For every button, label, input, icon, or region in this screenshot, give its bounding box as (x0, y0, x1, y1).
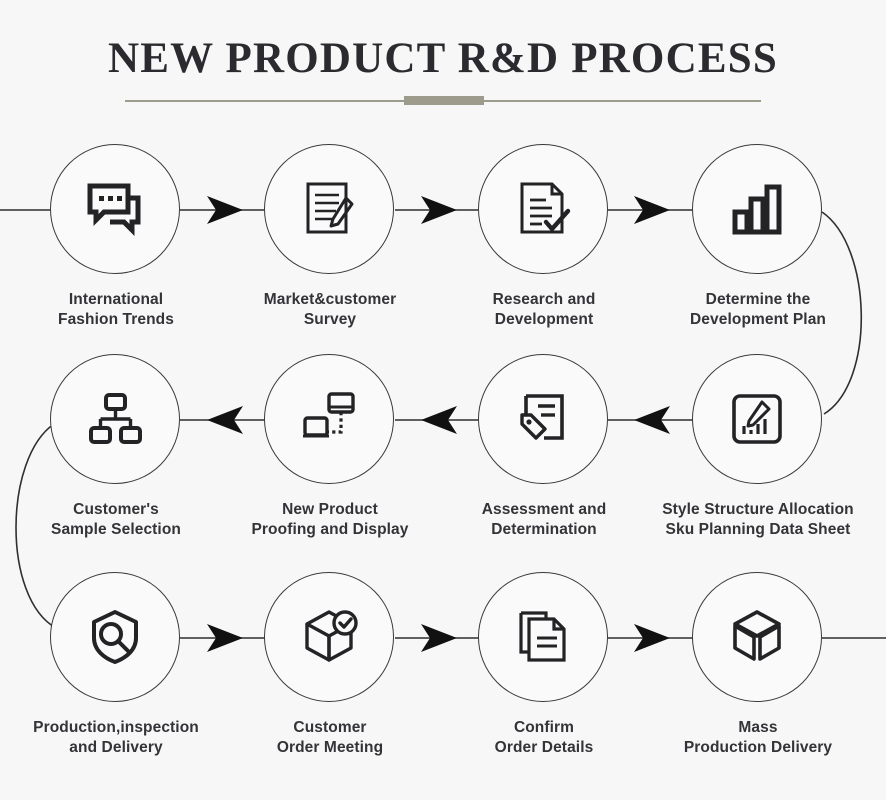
step-circle-6[interactable] (264, 354, 394, 484)
step-node-6[interactable]: New Product Proofing and Display (264, 354, 396, 486)
document-pencil-icon (298, 178, 360, 240)
step-circle-10[interactable] (264, 572, 394, 702)
step-circle-9[interactable] (50, 572, 180, 702)
cube-3d-icon (726, 606, 788, 668)
document-tag-icon (512, 388, 574, 450)
step-label-12-line1: Mass (632, 718, 884, 738)
bar-chart-icon (726, 178, 788, 240)
step-circle-11[interactable] (478, 572, 608, 702)
chart-pencil-board-icon (726, 388, 788, 450)
step-circle-4[interactable] (692, 144, 822, 274)
step-circle-12[interactable] (692, 572, 822, 702)
step-node-4[interactable]: Determine the Development Plan (692, 144, 824, 276)
step-node-3[interactable]: Research and Development (478, 144, 610, 276)
documents-stack-icon (512, 606, 574, 668)
step-label-4-line2: Development Plan (632, 310, 884, 330)
org-chart-icon (84, 388, 146, 450)
step-circle-7[interactable] (478, 354, 608, 484)
shield-search-icon (84, 606, 146, 668)
step-node-10[interactable]: Customer Order Meeting (264, 572, 396, 704)
box-check-icon (298, 606, 360, 668)
step-circle-1[interactable] (50, 144, 180, 274)
step-circle-3[interactable] (478, 144, 608, 274)
step-circle-2[interactable] (264, 144, 394, 274)
step-label-12-line2: Production Delivery (632, 738, 884, 758)
step-node-1[interactable]: International Fashion Trends (50, 144, 182, 276)
step-label-4-line1: Determine the (632, 290, 884, 310)
step-circle-8[interactable] (692, 354, 822, 484)
step-label-8-line1: Style Structure Allocation (632, 500, 884, 520)
step-node-8[interactable]: Style Structure Allocation Sku Planning … (692, 354, 824, 486)
step-label-8-line2: Sku Planning Data Sheet (632, 520, 884, 540)
devices-connected-icon (298, 388, 360, 450)
step-node-9[interactable]: Production,inspection and Delivery (50, 572, 182, 704)
document-check-icon (512, 178, 574, 240)
step-circle-5[interactable] (50, 354, 180, 484)
chat-bubbles-icon (84, 178, 146, 240)
step-label-8: Style Structure Allocation Sku Planning … (632, 500, 884, 541)
step-node-2[interactable]: Market&customer Survey (264, 144, 396, 276)
process-diagram-canvas: NEW PRODUCT R&D PROCESS (0, 0, 886, 800)
step-node-7[interactable]: Assessment and Determination (478, 354, 610, 486)
step-label-4: Determine the Development Plan (632, 290, 884, 331)
step-node-12[interactable]: Mass Production Delivery (692, 572, 824, 704)
step-node-5[interactable]: Customer's Sample Selection (50, 354, 182, 486)
step-node-11[interactable]: Confirm Order Details (478, 572, 610, 704)
step-label-12: Mass Production Delivery (632, 718, 884, 759)
